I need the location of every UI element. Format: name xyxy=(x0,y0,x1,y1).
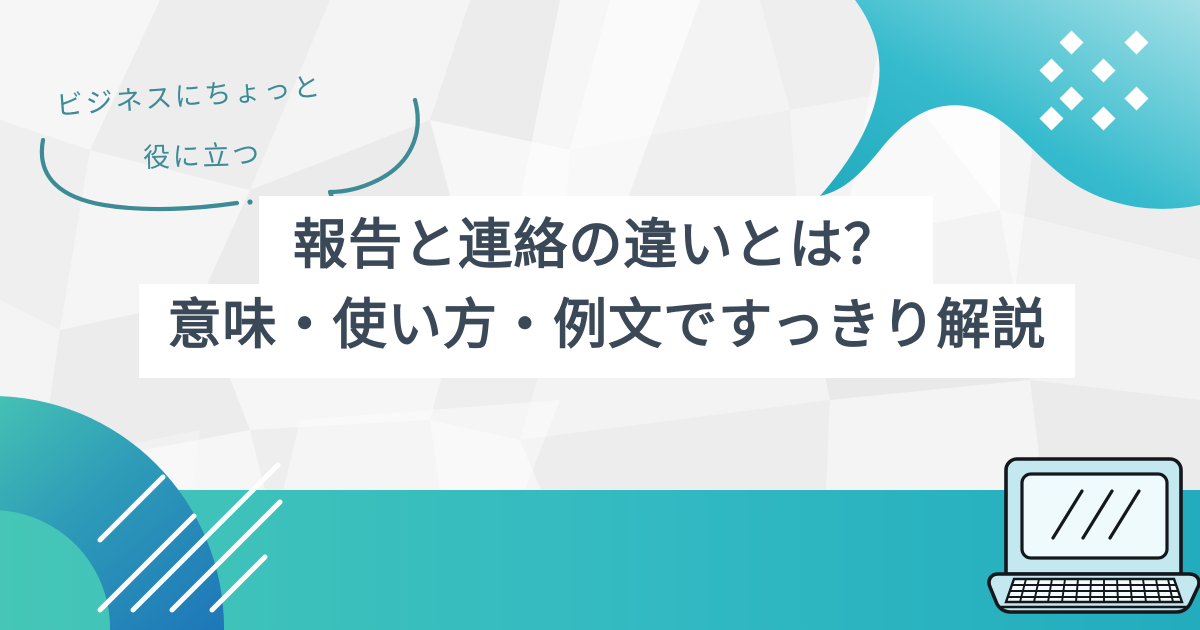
thumbnail-canvas: ビジネスにちょっと 役に立つ 報告と連絡の違いとは？ 意味・使い方・例文ですっき… xyxy=(0,0,1200,630)
laptop-illustration xyxy=(0,0,1200,630)
